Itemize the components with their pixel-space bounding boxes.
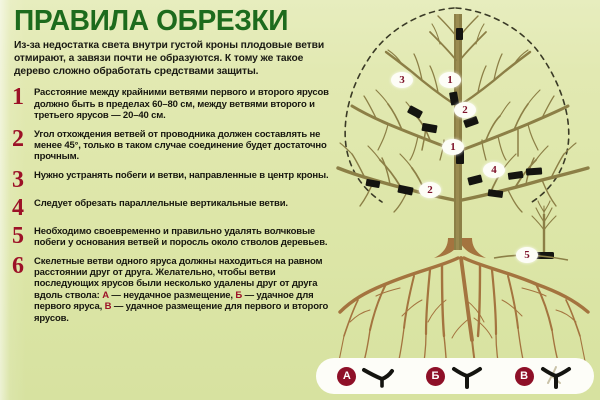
trunk-highlight	[456, 14, 459, 250]
callout-4: 4	[483, 162, 505, 178]
legend-key-a: А	[102, 290, 109, 301]
rule-item-1: 1 Расстояние между крайними ветвями перв…	[10, 86, 330, 121]
legend-item-b: Б	[426, 363, 484, 389]
rule-number: 5	[10, 225, 34, 247]
callout-1-upper: 1	[439, 72, 461, 88]
tree-illustration: 3 1 2 1 4 2 5	[330, 0, 600, 400]
rule-number: 1	[10, 86, 34, 108]
pruning-rules-poster: ПРАВИЛА ОБРЕЗКИ Из-за недостатка света в…	[0, 0, 600, 400]
legend-badge-b: Б	[426, 367, 445, 386]
callout-3: 3	[391, 72, 413, 88]
rule-text: Расстояние между крайними ветвями первог…	[34, 86, 330, 121]
rule-text: Скелетные ветви одного яруса должны нахо…	[34, 255, 330, 324]
callout-2-lower: 2	[419, 182, 441, 198]
rule-number: 2	[10, 128, 34, 150]
rule-item-5: 5 Необходимо своевременно и правильно уд…	[10, 225, 330, 249]
wide-fork-with-extra-branch-icon	[539, 363, 573, 389]
rule-number: 3	[10, 169, 34, 191]
wide-fork-branch-icon	[450, 363, 484, 389]
legend-badge-a: А	[337, 367, 356, 386]
fruit-tree-diagram-svg	[330, 0, 600, 400]
drooping-branch-icon	[361, 363, 395, 389]
legend-bar: А Б В	[316, 358, 594, 394]
legend-item-a: А	[337, 363, 395, 389]
rule-item-2: 2 Угол отхождения ветвей от проводника д…	[10, 128, 330, 163]
legend-item-v: В	[515, 363, 573, 389]
rule-number: 6	[10, 255, 34, 277]
callout-1-lower: 1	[442, 139, 464, 155]
callout-5: 5	[516, 247, 538, 263]
rule-text: Необходимо своевременно и правильно удал…	[34, 225, 330, 249]
rule-item-3: 3 Нужно устранять побеги и ветви, направ…	[10, 169, 330, 191]
legend-desc-a: — неудачное размещение,	[109, 290, 235, 301]
page-title: ПРАВИЛА ОБРЕЗКИ	[14, 6, 321, 36]
rule-item-6: 6 Скелетные ветви одного яруса должны на…	[10, 255, 330, 324]
rule-text: Угол отхождения ветвей от проводника дол…	[34, 128, 330, 163]
callout-2-upper: 2	[454, 102, 476, 118]
legend-badge-v: В	[515, 367, 534, 386]
rule-number: 4	[10, 197, 34, 219]
rule-text: Нужно устранять побеги и ветви, направле…	[34, 169, 330, 181]
intro-paragraph: Из-за недостатка света внутри густой кро…	[14, 40, 328, 79]
rule-text: Следует обрезать параллельные вертикальн…	[34, 197, 330, 209]
text-column: ПРАВИЛА ОБРЕЗКИ Из-за недостатка света в…	[0, 0, 336, 400]
rule-item-4: 4 Следует обрезать параллельные вертикал…	[10, 197, 330, 219]
